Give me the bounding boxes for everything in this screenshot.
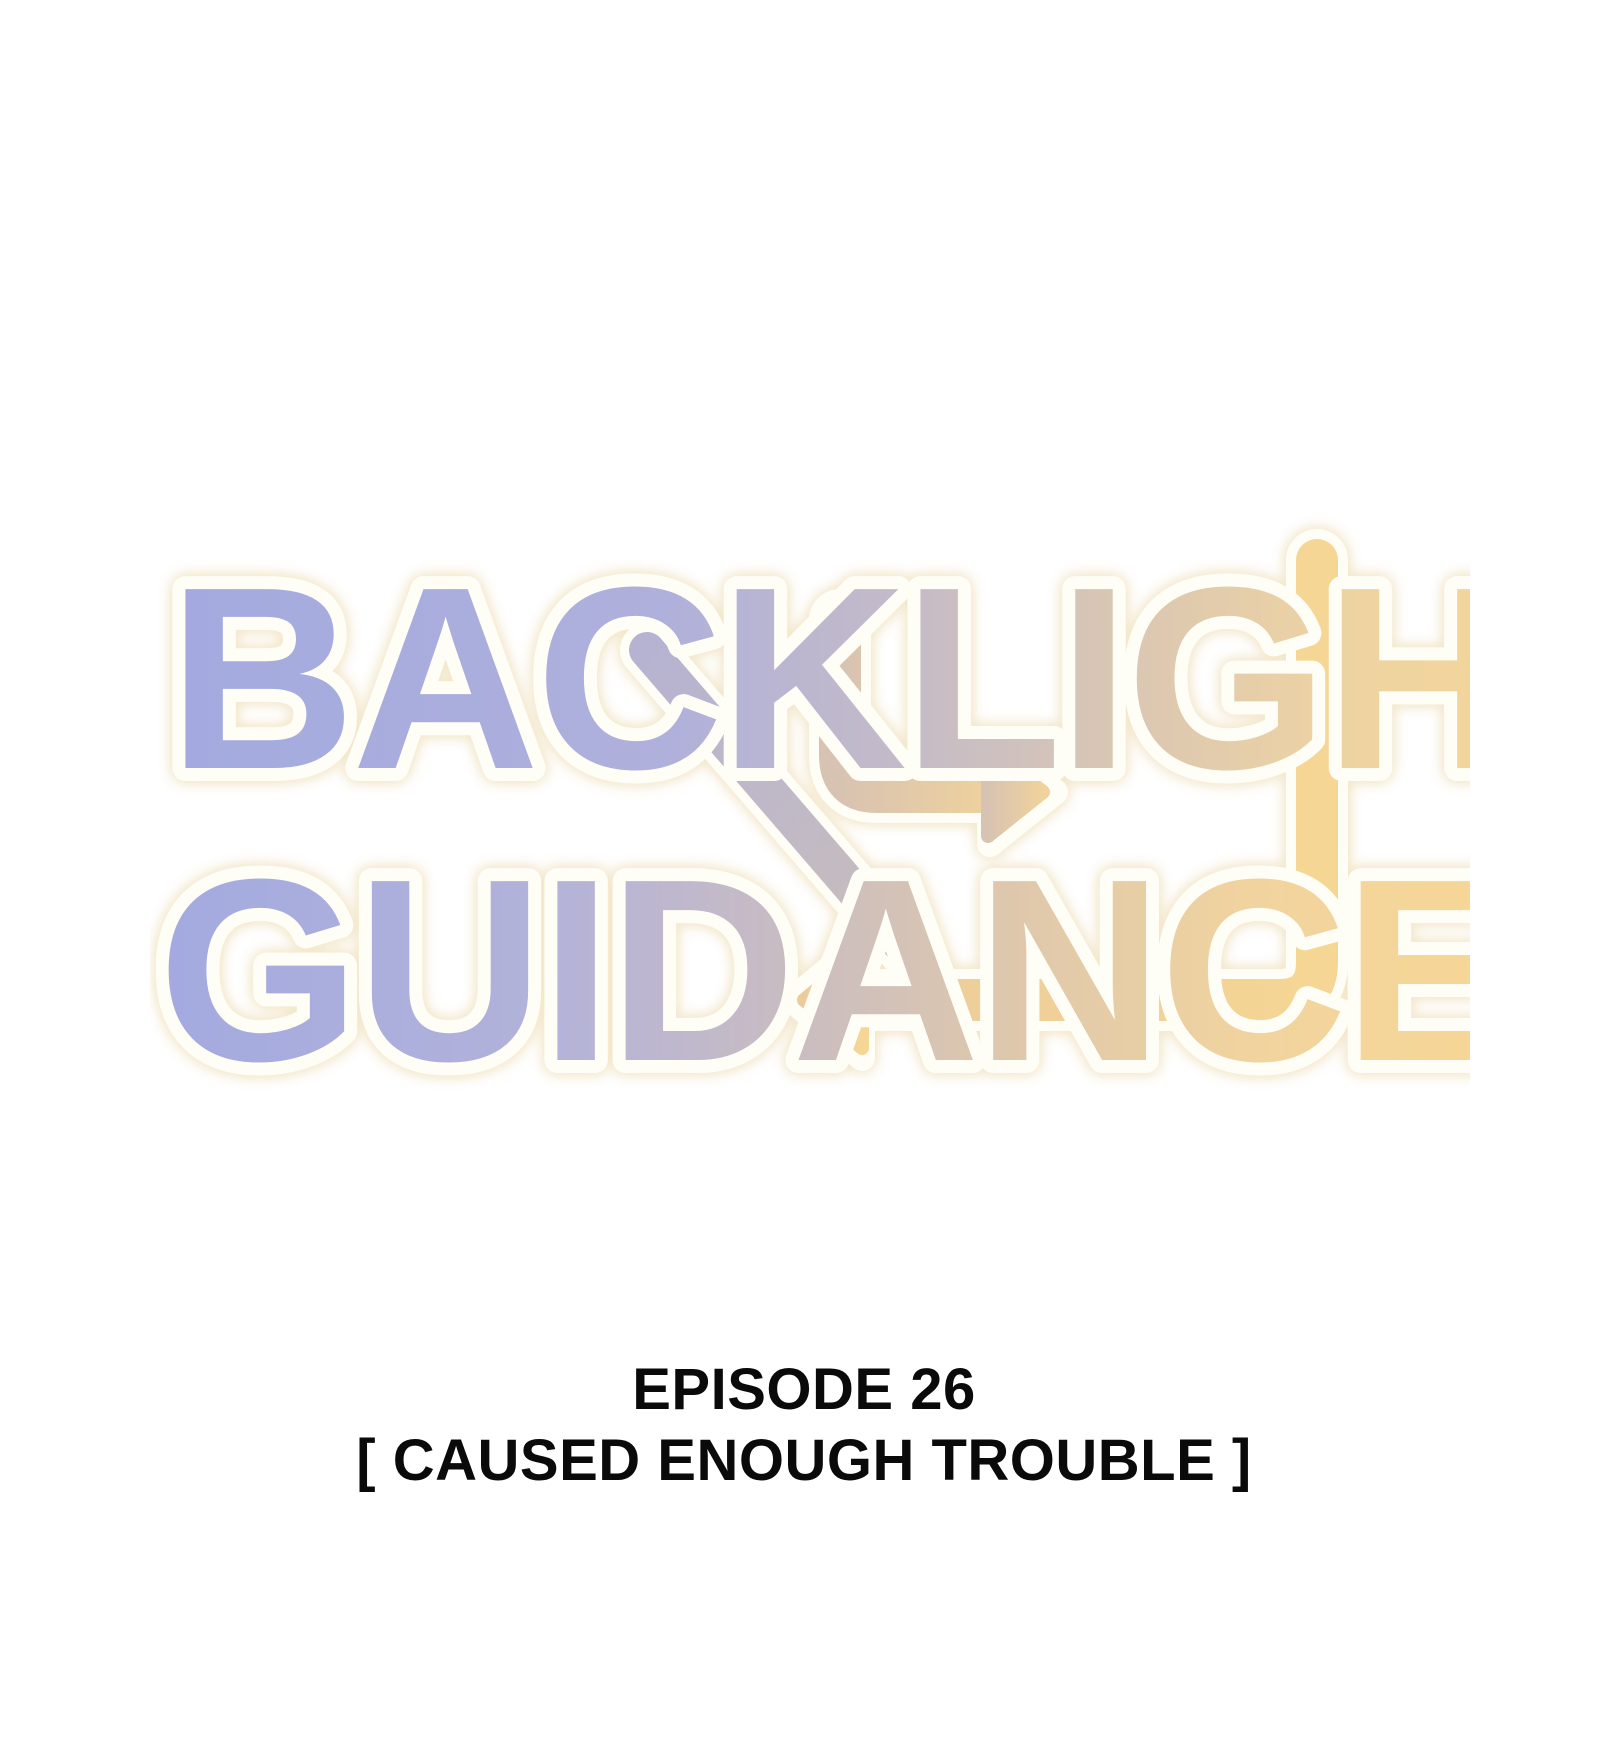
episode-number: EPISODE 26 [0, 1355, 1608, 1425]
backlight-guidance-logo: BACKLIGHT BACKLIGHT GUIDANCE GUIDANCE [150, 500, 1470, 1120]
logo-line-2-fill: GUIDANCE [158, 826, 1470, 1116]
episode-title: [ CAUSED ENOUGH TROUBLE ] [0, 1425, 1608, 1497]
comic-title-page: BACKLIGHT BACKLIGHT GUIDANCE GUIDANCE EP… [0, 0, 1608, 1763]
logo-line-1-fill: BACKLIGHT [168, 534, 1470, 824]
episode-caption: EPISODE 26 [ CAUSED ENOUGH TROUBLE ] [0, 1355, 1608, 1497]
logo-artwork: BACKLIGHT BACKLIGHT GUIDANCE GUIDANCE [150, 500, 1470, 1120]
